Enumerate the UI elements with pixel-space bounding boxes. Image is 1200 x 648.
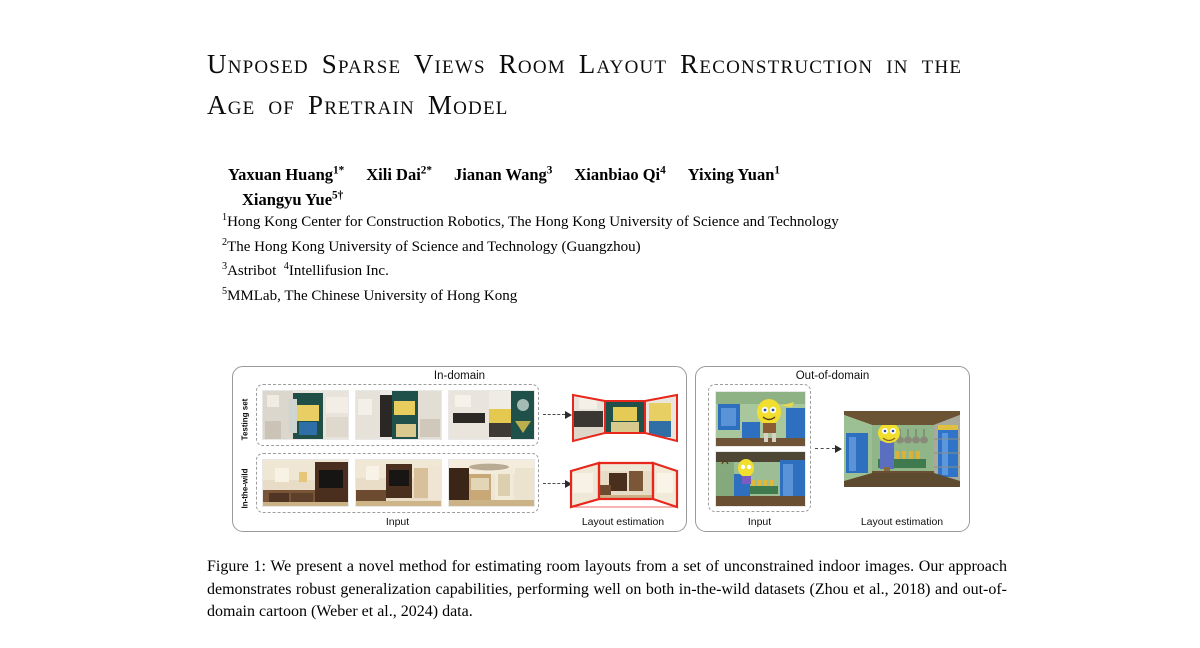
row-label-testing-set: Testing set — [241, 398, 250, 442]
author: Xili Dai2* — [366, 165, 432, 184]
input-thumbnail — [715, 391, 806, 447]
col-label-input: Input — [256, 516, 539, 528]
panel-title-out-of-domain: Out-of-domain — [696, 370, 969, 382]
col-label-layout-estimation: Layout estimation — [563, 516, 683, 528]
affiliation: 1Hong Kong Center for Construction Robot… — [222, 208, 1052, 233]
input-group-cartoon — [708, 384, 811, 512]
flow-arrow — [543, 414, 565, 416]
input-thumbnail — [262, 390, 349, 440]
flow-arrow — [543, 483, 565, 485]
input-thumbnail — [448, 390, 535, 440]
flow-arrow — [815, 448, 835, 450]
author: Xiangyu Yue5† — [242, 190, 343, 209]
affiliation-list: 1Hong Kong Center for Construction Robot… — [222, 208, 1052, 306]
row-label-in-the-wild: In-the-wild — [241, 467, 250, 511]
author: Jianan Wang3 — [454, 165, 552, 184]
input-thumbnail — [448, 459, 535, 507]
page-title: Unposed Sparse Views Room Layout Reconst… — [207, 44, 997, 126]
figure-1: In-domain Testing set In-the-wild — [232, 366, 970, 532]
input-group-in-the-wild — [256, 453, 539, 513]
figure-caption: Figure 1: We present a novel method for … — [207, 556, 1007, 624]
panel-in-domain: In-domain Testing set In-the-wild — [232, 366, 687, 532]
affiliation: 2The Hong Kong University of Science and… — [222, 233, 1052, 258]
affiliation: 5MMLab, The Chinese University of Hong K… — [222, 282, 1052, 307]
col-label-layout-estimation: Layout estimation — [838, 516, 966, 528]
author: Yaxuan Huang1* — [228, 165, 344, 184]
panel-out-of-domain: Out-of-domain — [695, 366, 970, 532]
author: Yixing Yuan1 — [688, 165, 780, 184]
input-thumbnail — [355, 459, 442, 507]
layout-reconstruction-in-the-wild — [565, 451, 683, 515]
input-group-testing-set — [256, 384, 539, 446]
input-thumbnail — [262, 459, 349, 507]
layout-reconstruction-testing-set — [569, 381, 681, 447]
author: Xianbiao Qi4 — [574, 165, 665, 184]
col-label-input: Input — [708, 516, 811, 528]
affiliation: 3Astribot 4Intellifusion Inc. — [222, 257, 1052, 282]
input-thumbnail — [355, 390, 442, 440]
layout-reconstruction-cartoon — [838, 389, 966, 507]
author-list: Yaxuan Huang1*Xili Dai2*Jianan Wang3Xian… — [228, 160, 988, 210]
input-thumbnail — [715, 451, 806, 507]
